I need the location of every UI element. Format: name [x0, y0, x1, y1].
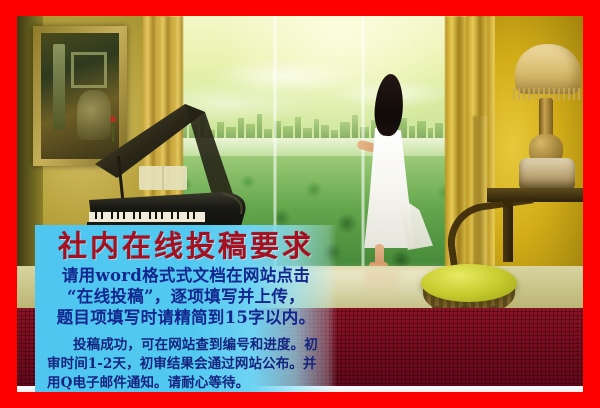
notice-paragraph-1: 请用word格式式文档在网站点击 “在线投稿”，逐项填写并上传， 题目项填写时请…	[45, 265, 327, 328]
notice-line: 请用word格式式文档在网站点击	[45, 265, 327, 286]
woman-reflection	[365, 270, 399, 304]
notice-paragraph-2: 投稿成功，可在网站查到编号和进度。初审时间1-2天，初审结果会通过网站公布。并用…	[45, 336, 327, 392]
rose-decoration	[109, 116, 117, 142]
poster-image: 社内在线投稿要求 请用word格式式文档在网站点击 “在线投稿”，逐项填写并上传…	[0, 0, 600, 408]
artwork-shape-square	[71, 52, 107, 88]
notice-panel: 社内在线投稿要求 请用word格式式文档在网站点击 “在线投稿”，逐项填写并上传…	[35, 225, 337, 392]
photo-plate: 社内在线投稿要求 请用word格式式文档在网站点击 “在线投稿”，逐项填写并上传…	[17, 16, 583, 392]
notice-title: 社内在线投稿要求	[45, 229, 327, 263]
notice-line: “在线投稿”，逐项填写并上传，	[45, 286, 327, 307]
lamp-shade	[515, 44, 581, 94]
notice-line: 题目项填写时请精简到15字以内。	[45, 307, 327, 328]
artwork-shape-column	[53, 44, 65, 130]
yellow-stool-cushion	[421, 264, 517, 302]
lamp-base	[519, 158, 575, 190]
